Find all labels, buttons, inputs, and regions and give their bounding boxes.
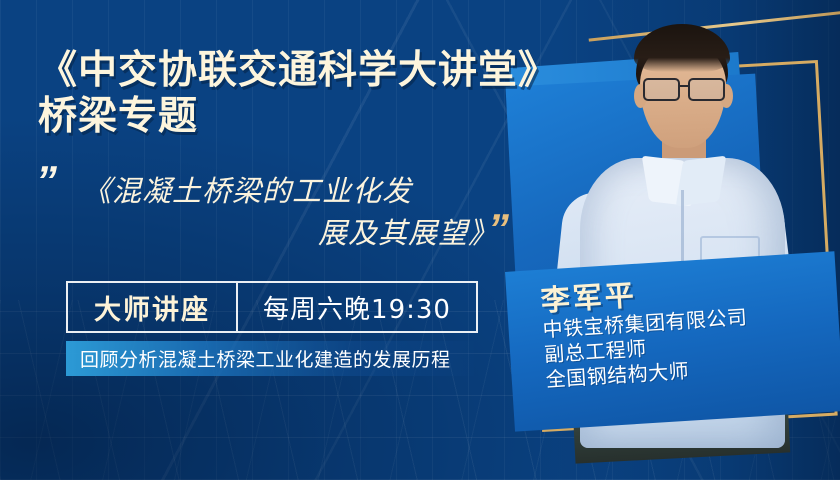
schedule-label: 大师讲座 (68, 288, 236, 327)
title-line-1: 《中交协联交通科学大讲堂》 (38, 48, 558, 93)
poster-canvas: 李军平 中铁宝桥集团有限公司 副总工程师 全国钢结构大师 《中交协联交通科学大讲… (0, 0, 840, 480)
lecture-topic-quote: ” 《混凝土桥梁的工业化发 展及其展望》 ” (36, 166, 536, 276)
speaker-credit-text: 李军平 中铁宝桥集团有限公司 副总工程师 全国钢结构大师 (505, 251, 840, 437)
portrait-hair-top (634, 24, 730, 72)
topic-line-1: 《混凝土桥梁的工业化发 (82, 170, 502, 212)
schedule-time: 每周六晚19:30 (238, 289, 476, 326)
topic-line-2: 展及其展望》 (82, 212, 502, 254)
title-line-2: 桥梁专题 (38, 94, 558, 140)
schedule-box: 大师讲座 每周六晚19:30 (66, 281, 478, 333)
tagline-text: 回顾分析混凝土桥梁工业化建造的发展历程 (66, 345, 451, 372)
quote-close-mark: ” (488, 214, 507, 244)
glasses-icon (642, 78, 726, 98)
tagline-bar: 回顾分析混凝土桥梁工业化建造的发展历程 (66, 341, 474, 376)
page-title: 《中交协联交通科学大讲堂》 桥梁专题 (38, 48, 558, 140)
lecture-topic-text: 《混凝土桥梁的工业化发 展及其展望》 (82, 170, 502, 254)
quote-open-mark: ” (36, 166, 55, 196)
